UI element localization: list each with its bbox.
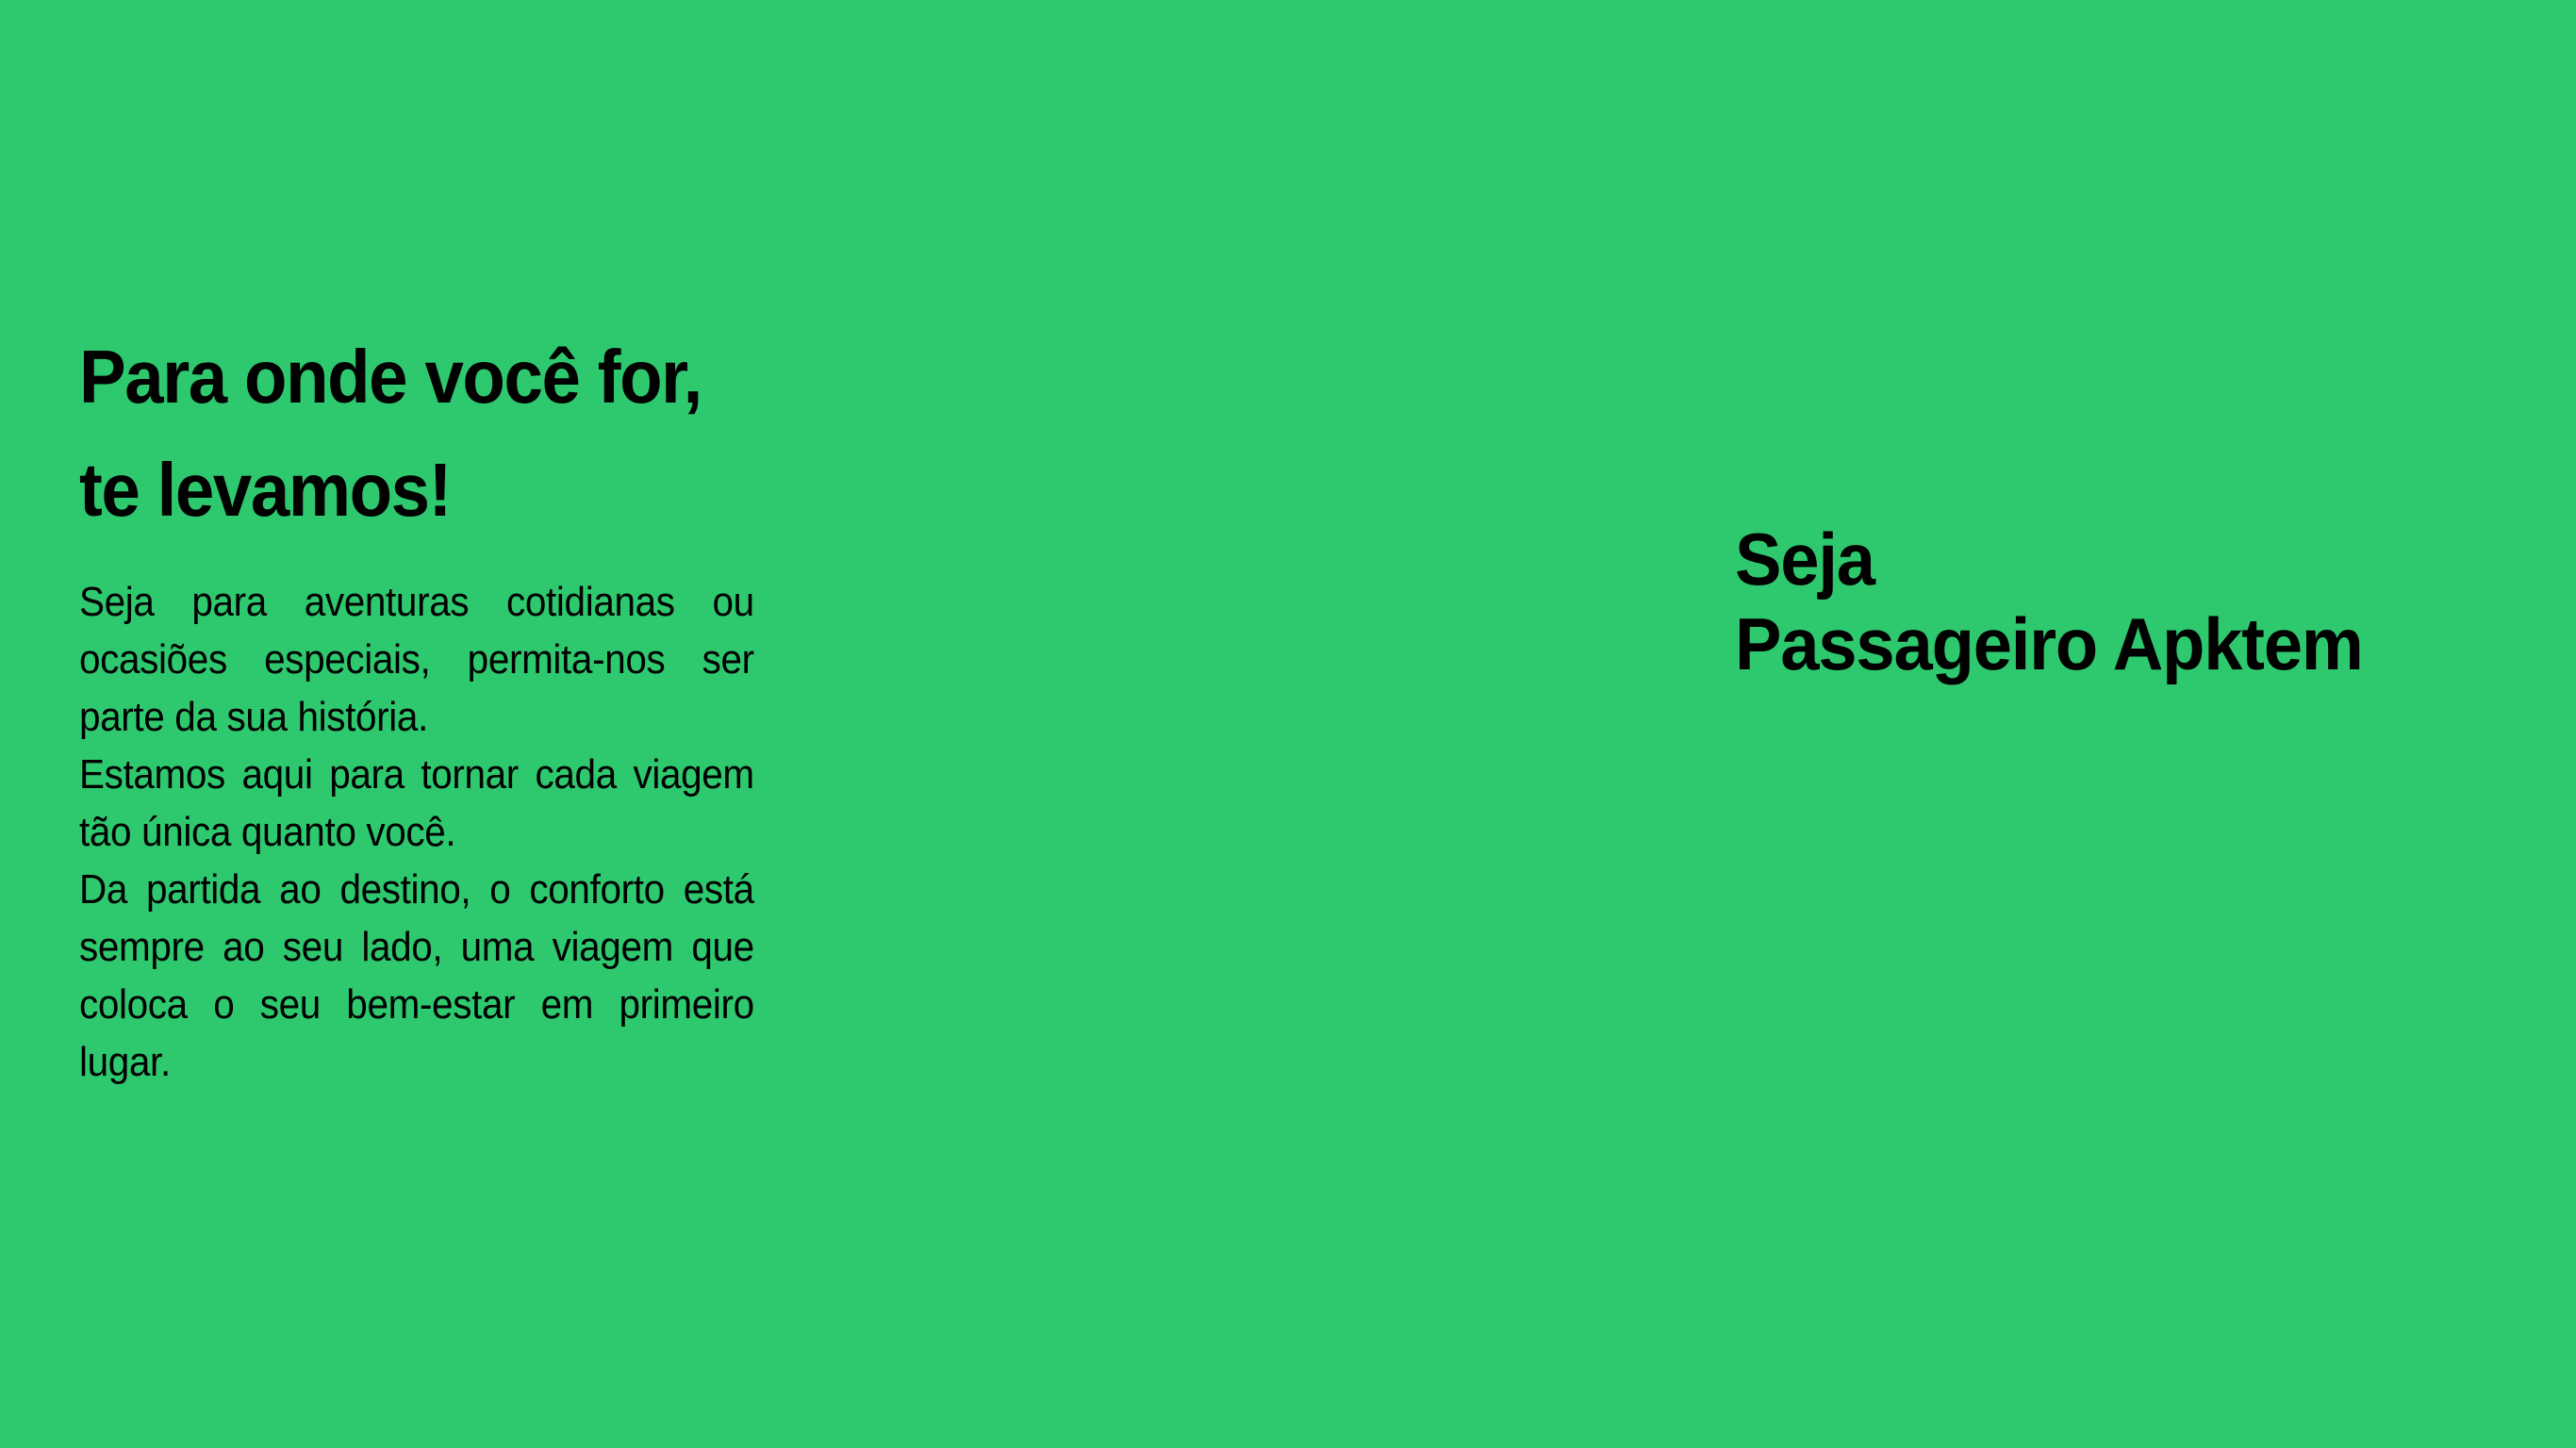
body-paragraph-2: Estamos aqui para tornar cada viagem tão… [79, 746, 754, 861]
secondary-headline: Seja Passageiro Apktem [1735, 517, 2487, 686]
body-copy-block: Seja para aventuras cotidianas ou ocasiõ… [79, 547, 754, 1091]
main-headline: Para onde você for, te levamos! [79, 321, 707, 547]
body-paragraph-3: Da partida ao destino, o conforto está s… [79, 861, 754, 1091]
left-content-block: Para onde você for, te levamos! Seja par… [79, 321, 754, 1091]
slide-canvas: Para onde você for, te levamos! Seja par… [0, 0, 2576, 1448]
right-content-block: Seja Passageiro Apktem [1735, 517, 2527, 686]
body-paragraph-1: Seja para aventuras cotidianas ou ocasiõ… [79, 573, 754, 746]
